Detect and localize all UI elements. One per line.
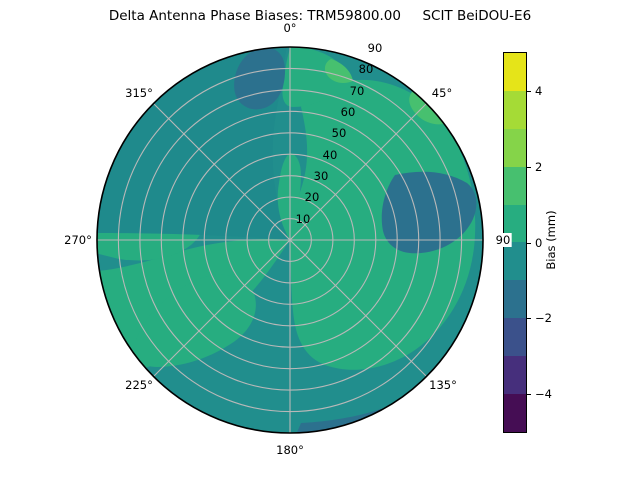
radial-label-90: 90 — [368, 41, 383, 55]
colorbar-tick-label-2: 2 — [535, 160, 542, 174]
theta-label-180: 180° — [276, 443, 304, 457]
radial-label-40: 40 — [323, 148, 338, 162]
radial-label-10: 10 — [296, 212, 311, 226]
colorbar-axis-label: Bias (mm) — [544, 210, 558, 269]
figure-title: Delta Antenna Phase Biases: TRM59800.00 … — [0, 8, 640, 24]
colorbar-band-9 — [504, 394, 526, 432]
theta-label-270: 270° — [64, 233, 92, 247]
colorbar-band-6 — [504, 280, 526, 318]
colorbar-band-5 — [504, 242, 526, 280]
colorbar-band-3 — [504, 167, 526, 205]
colorbar-tick--2 — [527, 318, 531, 319]
radial-label-30: 30 — [314, 169, 329, 183]
radial-label-50: 50 — [332, 126, 347, 140]
colorbar-band-0 — [504, 53, 526, 91]
colorbar-tick-0 — [527, 243, 531, 244]
polar-axes: 0° 45° 90 135° 180° 225° 270° 315° 10 20… — [95, 45, 485, 435]
colorbar-band-1 — [504, 91, 526, 129]
colorbar-tick-label-0: 0 — [535, 236, 542, 250]
colorbar-band-7 — [504, 318, 526, 356]
theta-label-45: 45° — [432, 86, 452, 100]
figure-canvas: Delta Antenna Phase Biases: TRM59800.00 … — [0, 0, 640, 480]
colorbar-tick-label-4: 4 — [535, 84, 542, 98]
polar-grid — [97, 47, 483, 433]
theta-label-90: 90 — [495, 233, 512, 247]
colorbar-tick-2 — [527, 167, 531, 168]
radial-label-70: 70 — [350, 84, 365, 98]
colorbar-band-8 — [504, 356, 526, 394]
polar-plot-svg — [95, 45, 485, 435]
colorbar-band-2 — [504, 129, 526, 167]
radial-label-20: 20 — [305, 190, 320, 204]
theta-label-225: 225° — [125, 378, 153, 392]
colorbar-tick--4 — [527, 394, 531, 395]
colorbar-tick-4 — [527, 91, 531, 92]
radial-label-80: 80 — [359, 62, 374, 76]
theta-label-0: 0° — [283, 21, 296, 35]
colorbar-tick-label--2: −2 — [535, 311, 552, 325]
theta-label-315: 315° — [125, 86, 153, 100]
radial-label-60: 60 — [341, 105, 356, 119]
colorbar-tick-label--4: −4 — [535, 387, 552, 401]
theta-label-135: 135° — [429, 378, 457, 392]
